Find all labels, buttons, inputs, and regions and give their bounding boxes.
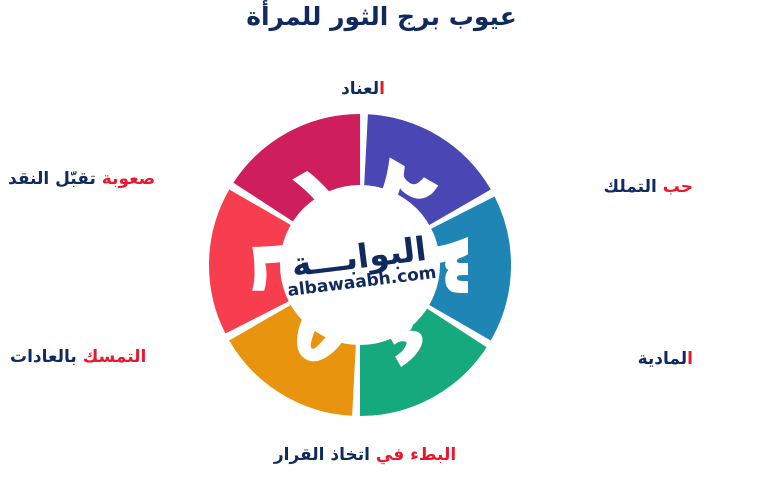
- label-segment-3: المادية: [533, 348, 693, 370]
- label-segment-5: التمسك بالعادات: [10, 346, 190, 368]
- label-segment-3-rest: لمادية: [638, 349, 688, 369]
- label-segment-6: صعوبة تقبّل النقد: [8, 168, 208, 190]
- label-segment-4-rest: اتخاذ القرار: [274, 445, 370, 465]
- label-segment-1-highlight: ا: [379, 79, 385, 99]
- label-segment-3-highlight: ا: [687, 349, 693, 369]
- label-segment-2-highlight: حب: [663, 177, 693, 197]
- donut-center-hole: [280, 185, 440, 345]
- label-segment-4: البطء في اتخاذ القرار: [240, 444, 490, 466]
- label-segment-5-rest: بالعادات: [10, 347, 77, 367]
- label-segment-2-rest: التملك: [604, 177, 657, 197]
- label-segment-1-rest: لعناد: [341, 79, 379, 99]
- label-segment-4-highlight: البطء في: [376, 445, 456, 465]
- label-segment-6-rest: تقبّل النقد: [8, 169, 96, 189]
- label-segment-6-highlight: صعوبة: [102, 169, 155, 189]
- label-segment-5-highlight: التمسك: [83, 347, 147, 367]
- label-segment-2: حب التملك: [533, 176, 693, 198]
- donut-chart: ١ ٢ ٣ ٤ ٥ ٦: [205, 110, 515, 420]
- page-title: عيوب برج الثور للمرأة: [0, 0, 763, 34]
- infographic-page: عيوب برج الثور للمرأة ١ ٢ ٣ ٤ ٥ ٦: [0, 0, 763, 479]
- label-segment-1: العناد: [243, 78, 483, 100]
- donut-chart-svg: ١ ٢ ٣ ٤ ٥ ٦: [205, 110, 515, 420]
